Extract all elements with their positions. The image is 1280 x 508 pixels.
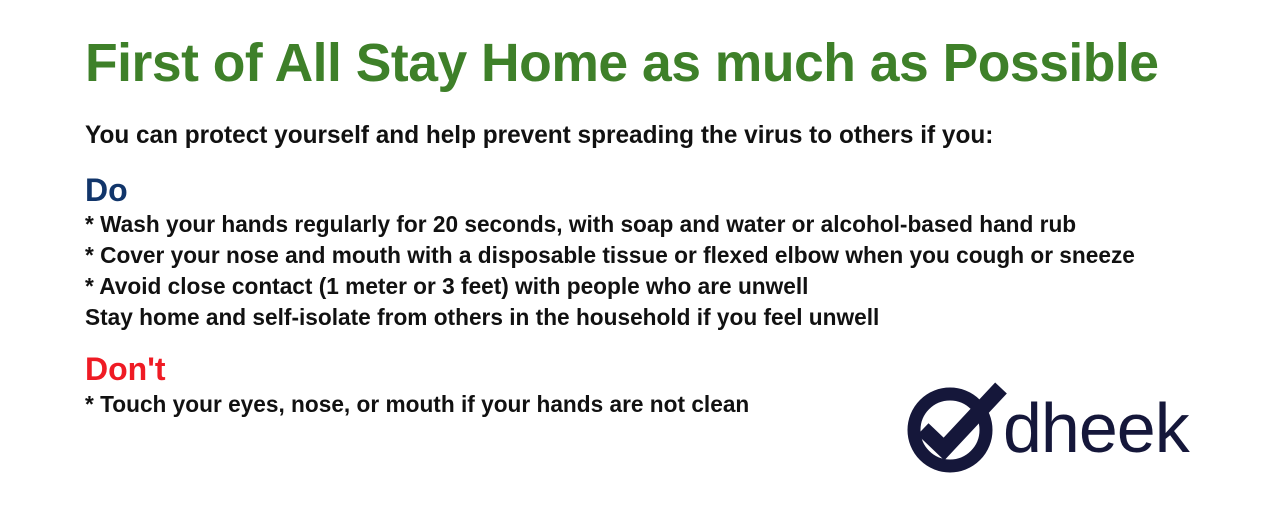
poster-subtitle: You can protect yourself and help preven…	[85, 90, 1177, 150]
list-item: * Wash your hands regularly for 20 secon…	[85, 209, 1188, 240]
brand-wordmark: dheek	[1003, 393, 1189, 463]
list-item: * Cover your nose and mouth with a dispo…	[85, 240, 1188, 271]
do-list: * Wash your hands regularly for 20 secon…	[85, 209, 1205, 333]
circle-check-icon	[893, 382, 1017, 474]
poster-canvas: First of All Stay Home as much as Possib…	[0, 0, 1280, 508]
brand-logo: dheek	[893, 382, 1193, 474]
list-item: Stay home and self-isolate from others i…	[85, 302, 1188, 333]
dont-section-heading: Don't	[85, 333, 1205, 389]
list-item: * Avoid close contact (1 meter or 3 feet…	[85, 271, 1188, 302]
poster-content: First of All Stay Home as much as Possib…	[85, 0, 1205, 420]
page-title: First of All Stay Home as much as Possib…	[85, 0, 1194, 90]
do-section-heading: Do	[85, 150, 1205, 210]
